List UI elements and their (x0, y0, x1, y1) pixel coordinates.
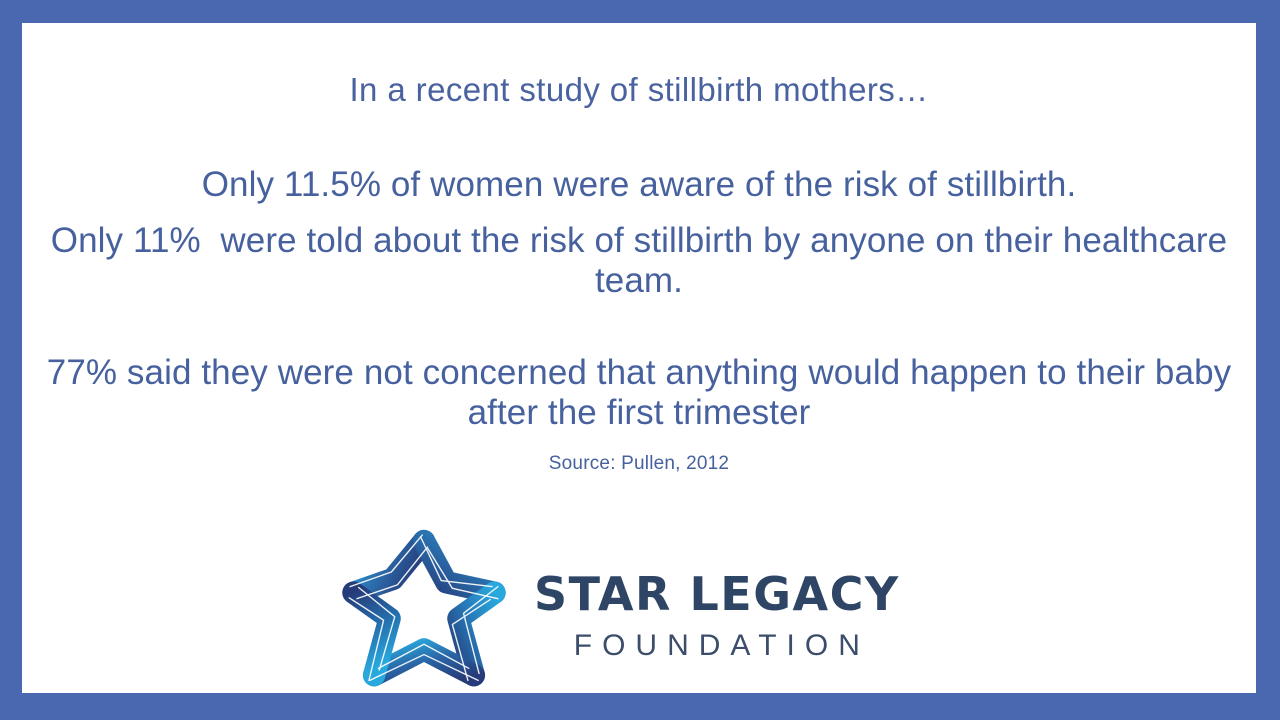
logo-wordmark: STAR LEGACY FOUNDATION (534, 571, 900, 661)
slide-body: In a recent study of stillbirth mothers…… (22, 23, 1256, 693)
statistic-line-2: Only 11% were told about the risk of sti… (22, 221, 1256, 302)
logo-subtitle: FOUNDATION (564, 631, 870, 661)
star-legacy-foundation-logo: STAR LEGACY FOUNDATION (322, 523, 962, 693)
slide: In a recent study of stillbirth mothers…… (0, 0, 1280, 720)
star-ribbon-icon (338, 529, 510, 693)
page-title: In a recent study of stillbirth mothers… (22, 71, 1256, 109)
source-citation: Source: Pullen, 2012 (22, 453, 1256, 475)
slide-content-panel: In a recent study of stillbirth mothers…… (22, 23, 1256, 693)
statistic-line-1: Only 11.5% of women were aware of the ri… (22, 163, 1256, 208)
statistic-line-3: 77% said they were not concerned that an… (22, 353, 1256, 434)
logo-title: STAR LEGACY (534, 571, 900, 617)
